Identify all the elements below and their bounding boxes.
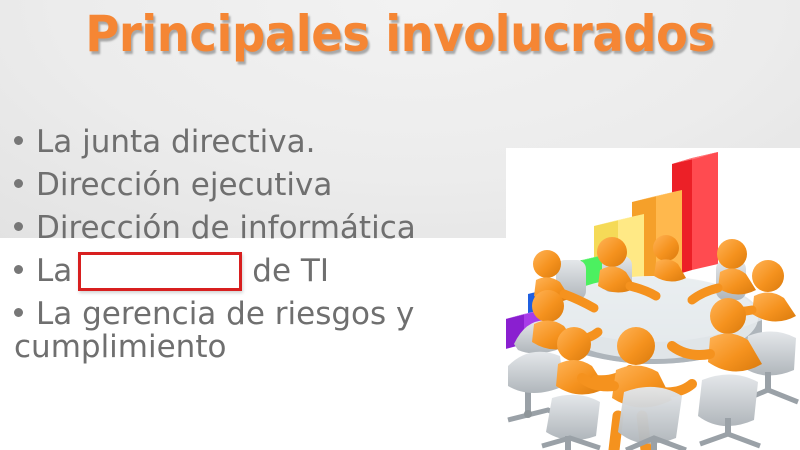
bullet-item-redacted-line: La de TI [36,251,329,291]
list-item: La junta directiva. [14,122,504,165]
list-item-redacted: La de TI [14,251,504,294]
list-item: Dirección ejecutiva [14,165,504,208]
bullet-item-label: Dirección de informática [36,208,416,248]
bullet-item-label: Dirección ejecutiva [36,165,332,205]
bullet-dot-icon [14,265,23,274]
bullet-dot-icon [14,222,23,231]
meeting-clipart-svg [506,148,800,450]
bullet-dot-icon [14,308,23,317]
presentation-slide: Principales involucrados La junta direct… [0,0,800,450]
bullet-text-after-redaction: de TI [252,251,329,291]
bullet-item-label: La junta directiva. [36,122,315,162]
bullet-text-before-redaction: La [36,251,72,291]
slide-title: Principales involucrados [28,8,772,61]
redaction-box [78,252,242,291]
bullet-list: La junta directiva. Dirección ejecutiva … [14,122,504,337]
bullet-dot-icon [14,136,23,145]
list-item: Dirección de informática [14,208,504,251]
bullet-dot-icon [14,179,23,188]
meeting-table-clipart [506,148,800,450]
bullet-item-continuation: cumplimiento [14,327,226,367]
